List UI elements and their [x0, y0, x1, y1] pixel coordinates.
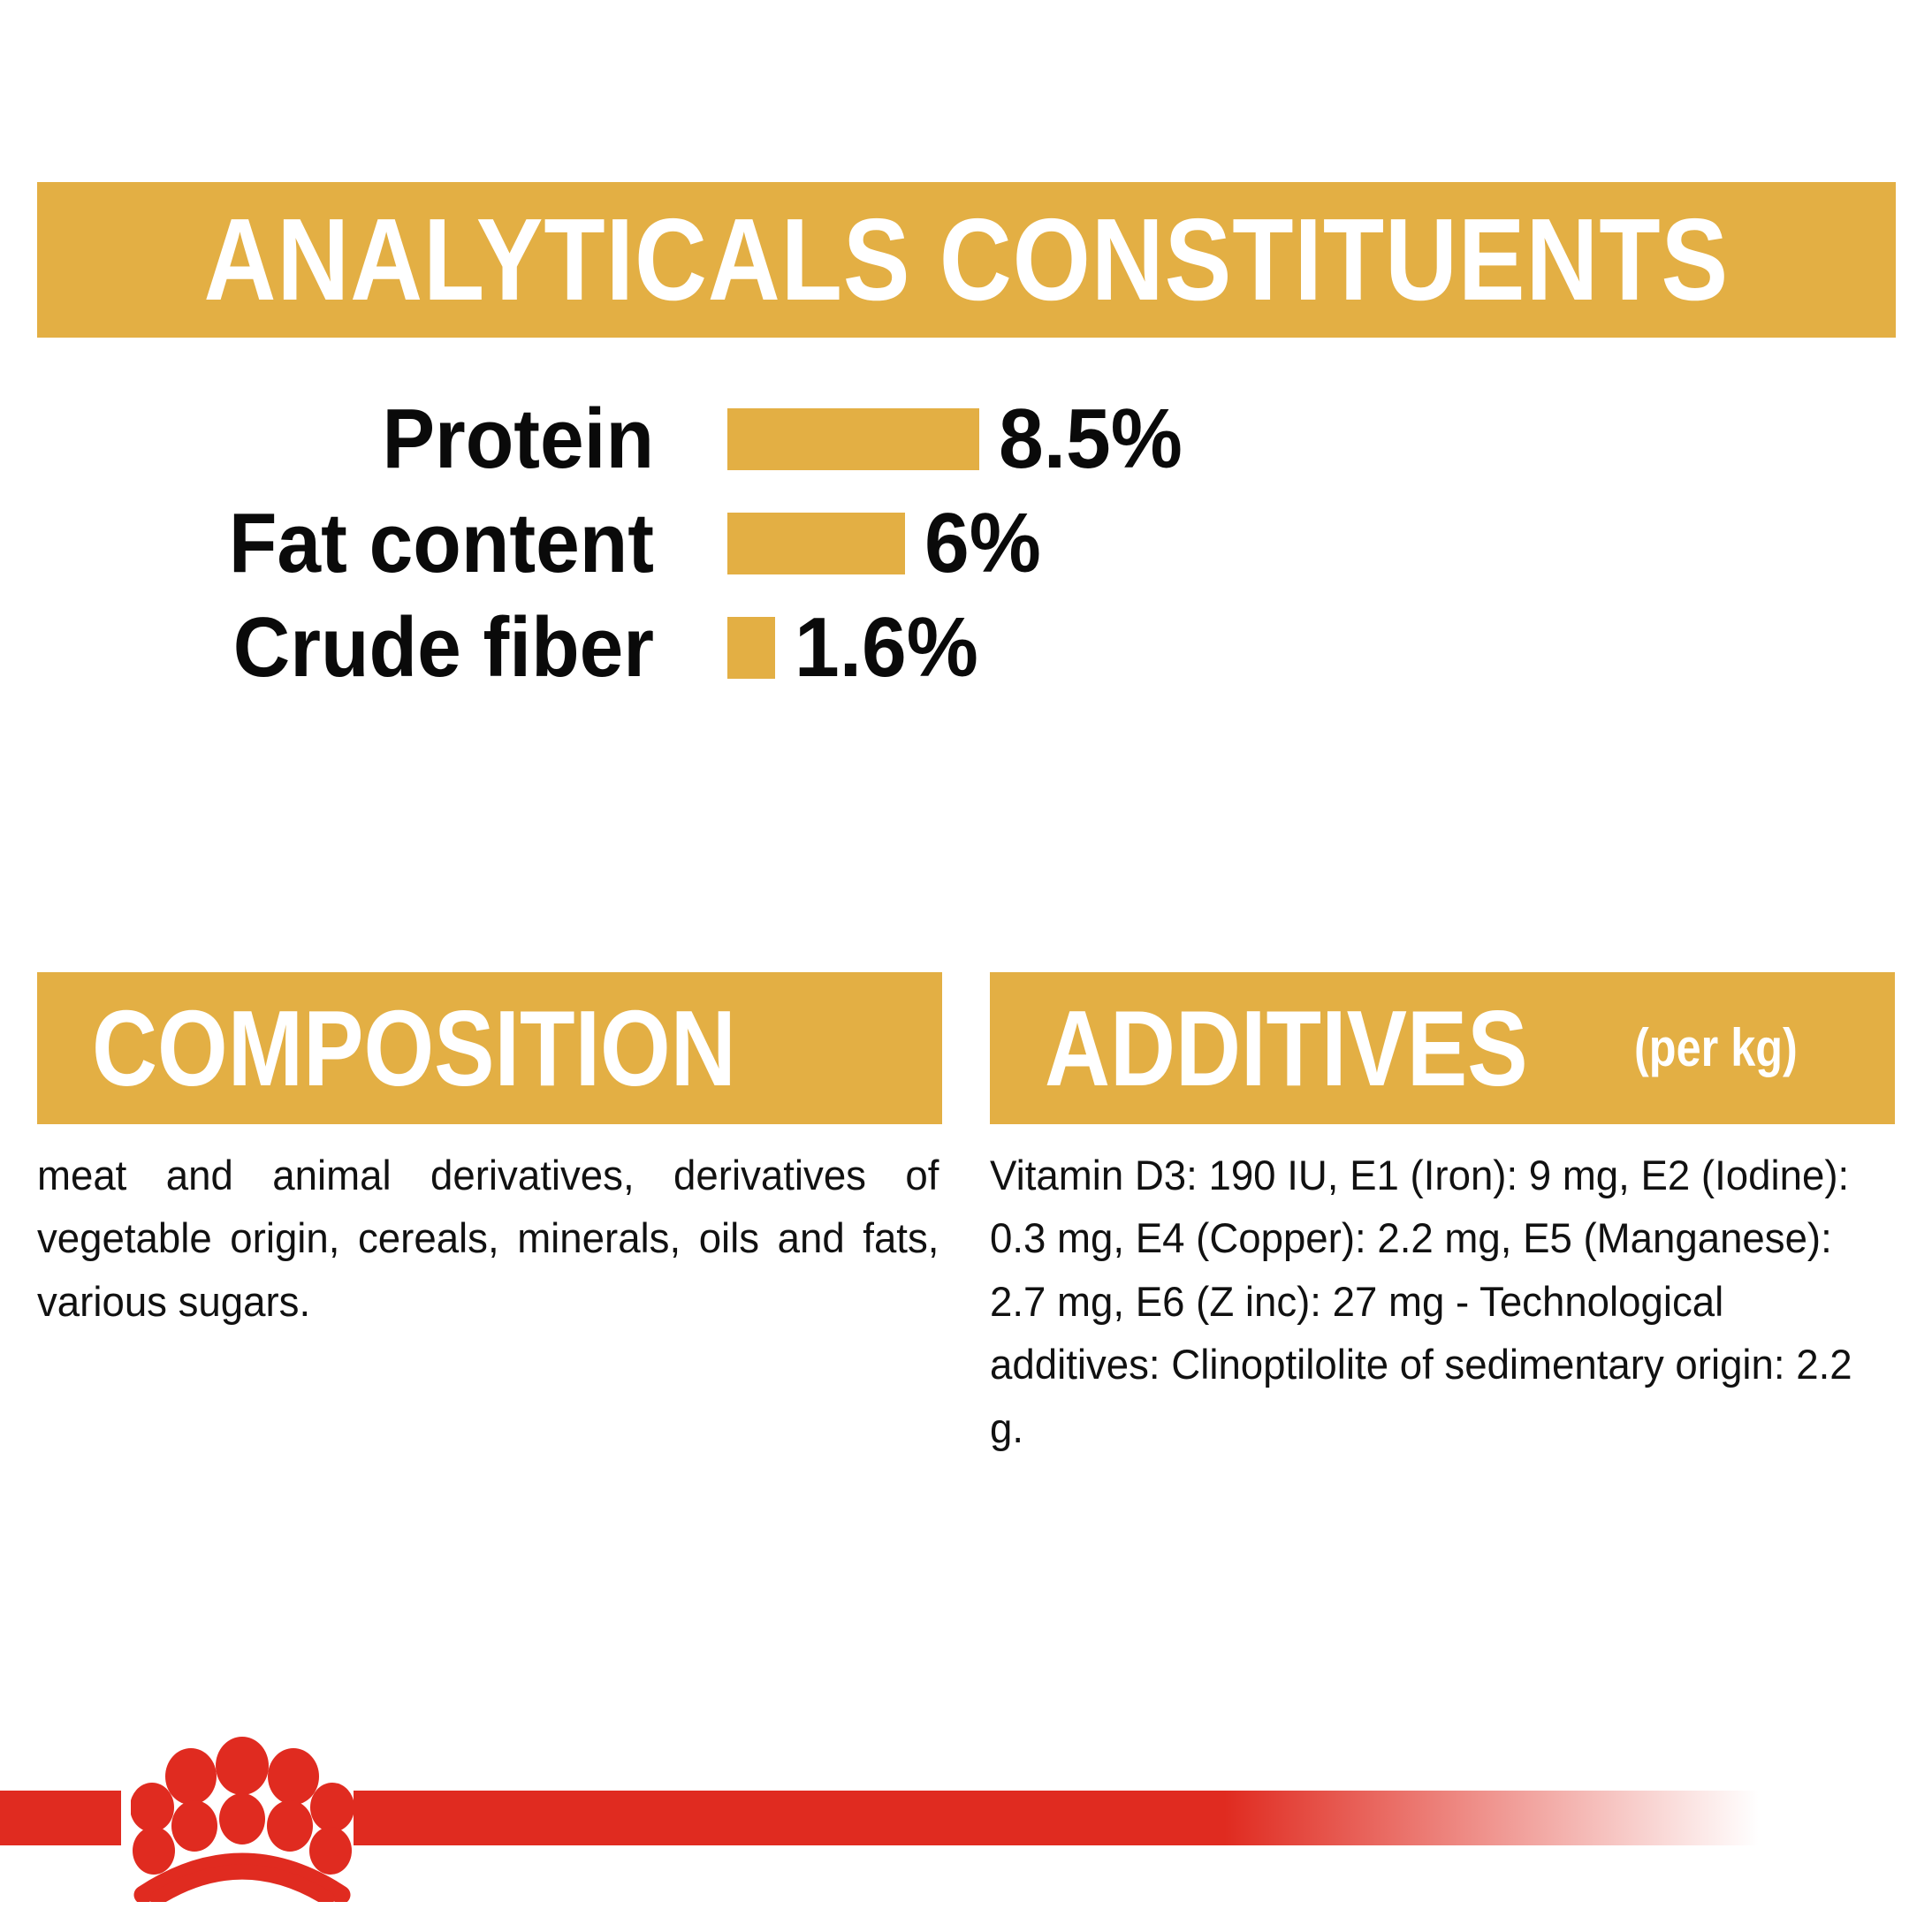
nutrient-label-fat-content: Fat content	[46, 501, 654, 586]
nutrient-row: Protein 8.5%	[0, 387, 1932, 491]
footer-bar-left	[0, 1791, 121, 1845]
detail-panels: COMPOSITION meat and animal derivatives,…	[37, 972, 1896, 1459]
additives-body-text: Vitamin D3: 190 IU, E1 (Iron): 9 mg, E2 …	[990, 1144, 1891, 1459]
analyticals-constituents-chart: Protein 8.5% Fat content 6% Crude fiber …	[0, 387, 1932, 700]
nutrient-bar-group: 6%	[727, 501, 1047, 586]
nutrient-bar-group: 1.6%	[727, 605, 987, 690]
page-title: ANALYTICALS CONSTITUENTS	[204, 202, 1730, 318]
nutrient-bar-protein	[727, 408, 979, 470]
nutrient-value-protein: 8.5%	[999, 397, 1183, 482]
composition-panel: COMPOSITION meat and animal derivatives,…	[37, 972, 942, 1459]
nutrient-value-crude-fiber: 1.6%	[795, 605, 978, 690]
nutrient-label-protein: Protein	[46, 397, 654, 482]
nutrition-label-page: ANALYTICALS CONSTITUENTS Protein 8.5% Fa…	[0, 0, 1932, 1932]
nutrient-bar-group: 8.5%	[727, 397, 1192, 482]
additives-header-band: ADDITIVES (per kg)	[990, 972, 1895, 1124]
additives-panel: ADDITIVES (per kg) Vitamin D3: 190 IU, E…	[990, 972, 1895, 1459]
nutrient-row: Fat content 6%	[0, 491, 1932, 596]
additives-title-suffix: (per kg)	[1634, 1022, 1798, 1075]
composition-header-band: COMPOSITION	[37, 972, 942, 1124]
nutrient-bar-crude-fiber	[727, 617, 775, 679]
royal-canin-crown-icon	[131, 1734, 354, 1902]
additives-title: ADDITIVES	[1045, 994, 1528, 1102]
nutrient-bar-fat-content	[727, 513, 905, 574]
composition-body-text: meat and animal derivatives, derivatives…	[37, 1144, 939, 1333]
nutrient-row: Crude fiber 1.6%	[0, 596, 1932, 700]
composition-title: COMPOSITION	[92, 994, 736, 1102]
footer-bar-right	[354, 1791, 1759, 1845]
nutrient-value-fat-content: 6%	[924, 501, 1041, 586]
analyticals-header-band: ANALYTICALS CONSTITUENTS	[37, 182, 1896, 338]
nutrient-label-crude-fiber: Crude fiber	[46, 605, 654, 690]
